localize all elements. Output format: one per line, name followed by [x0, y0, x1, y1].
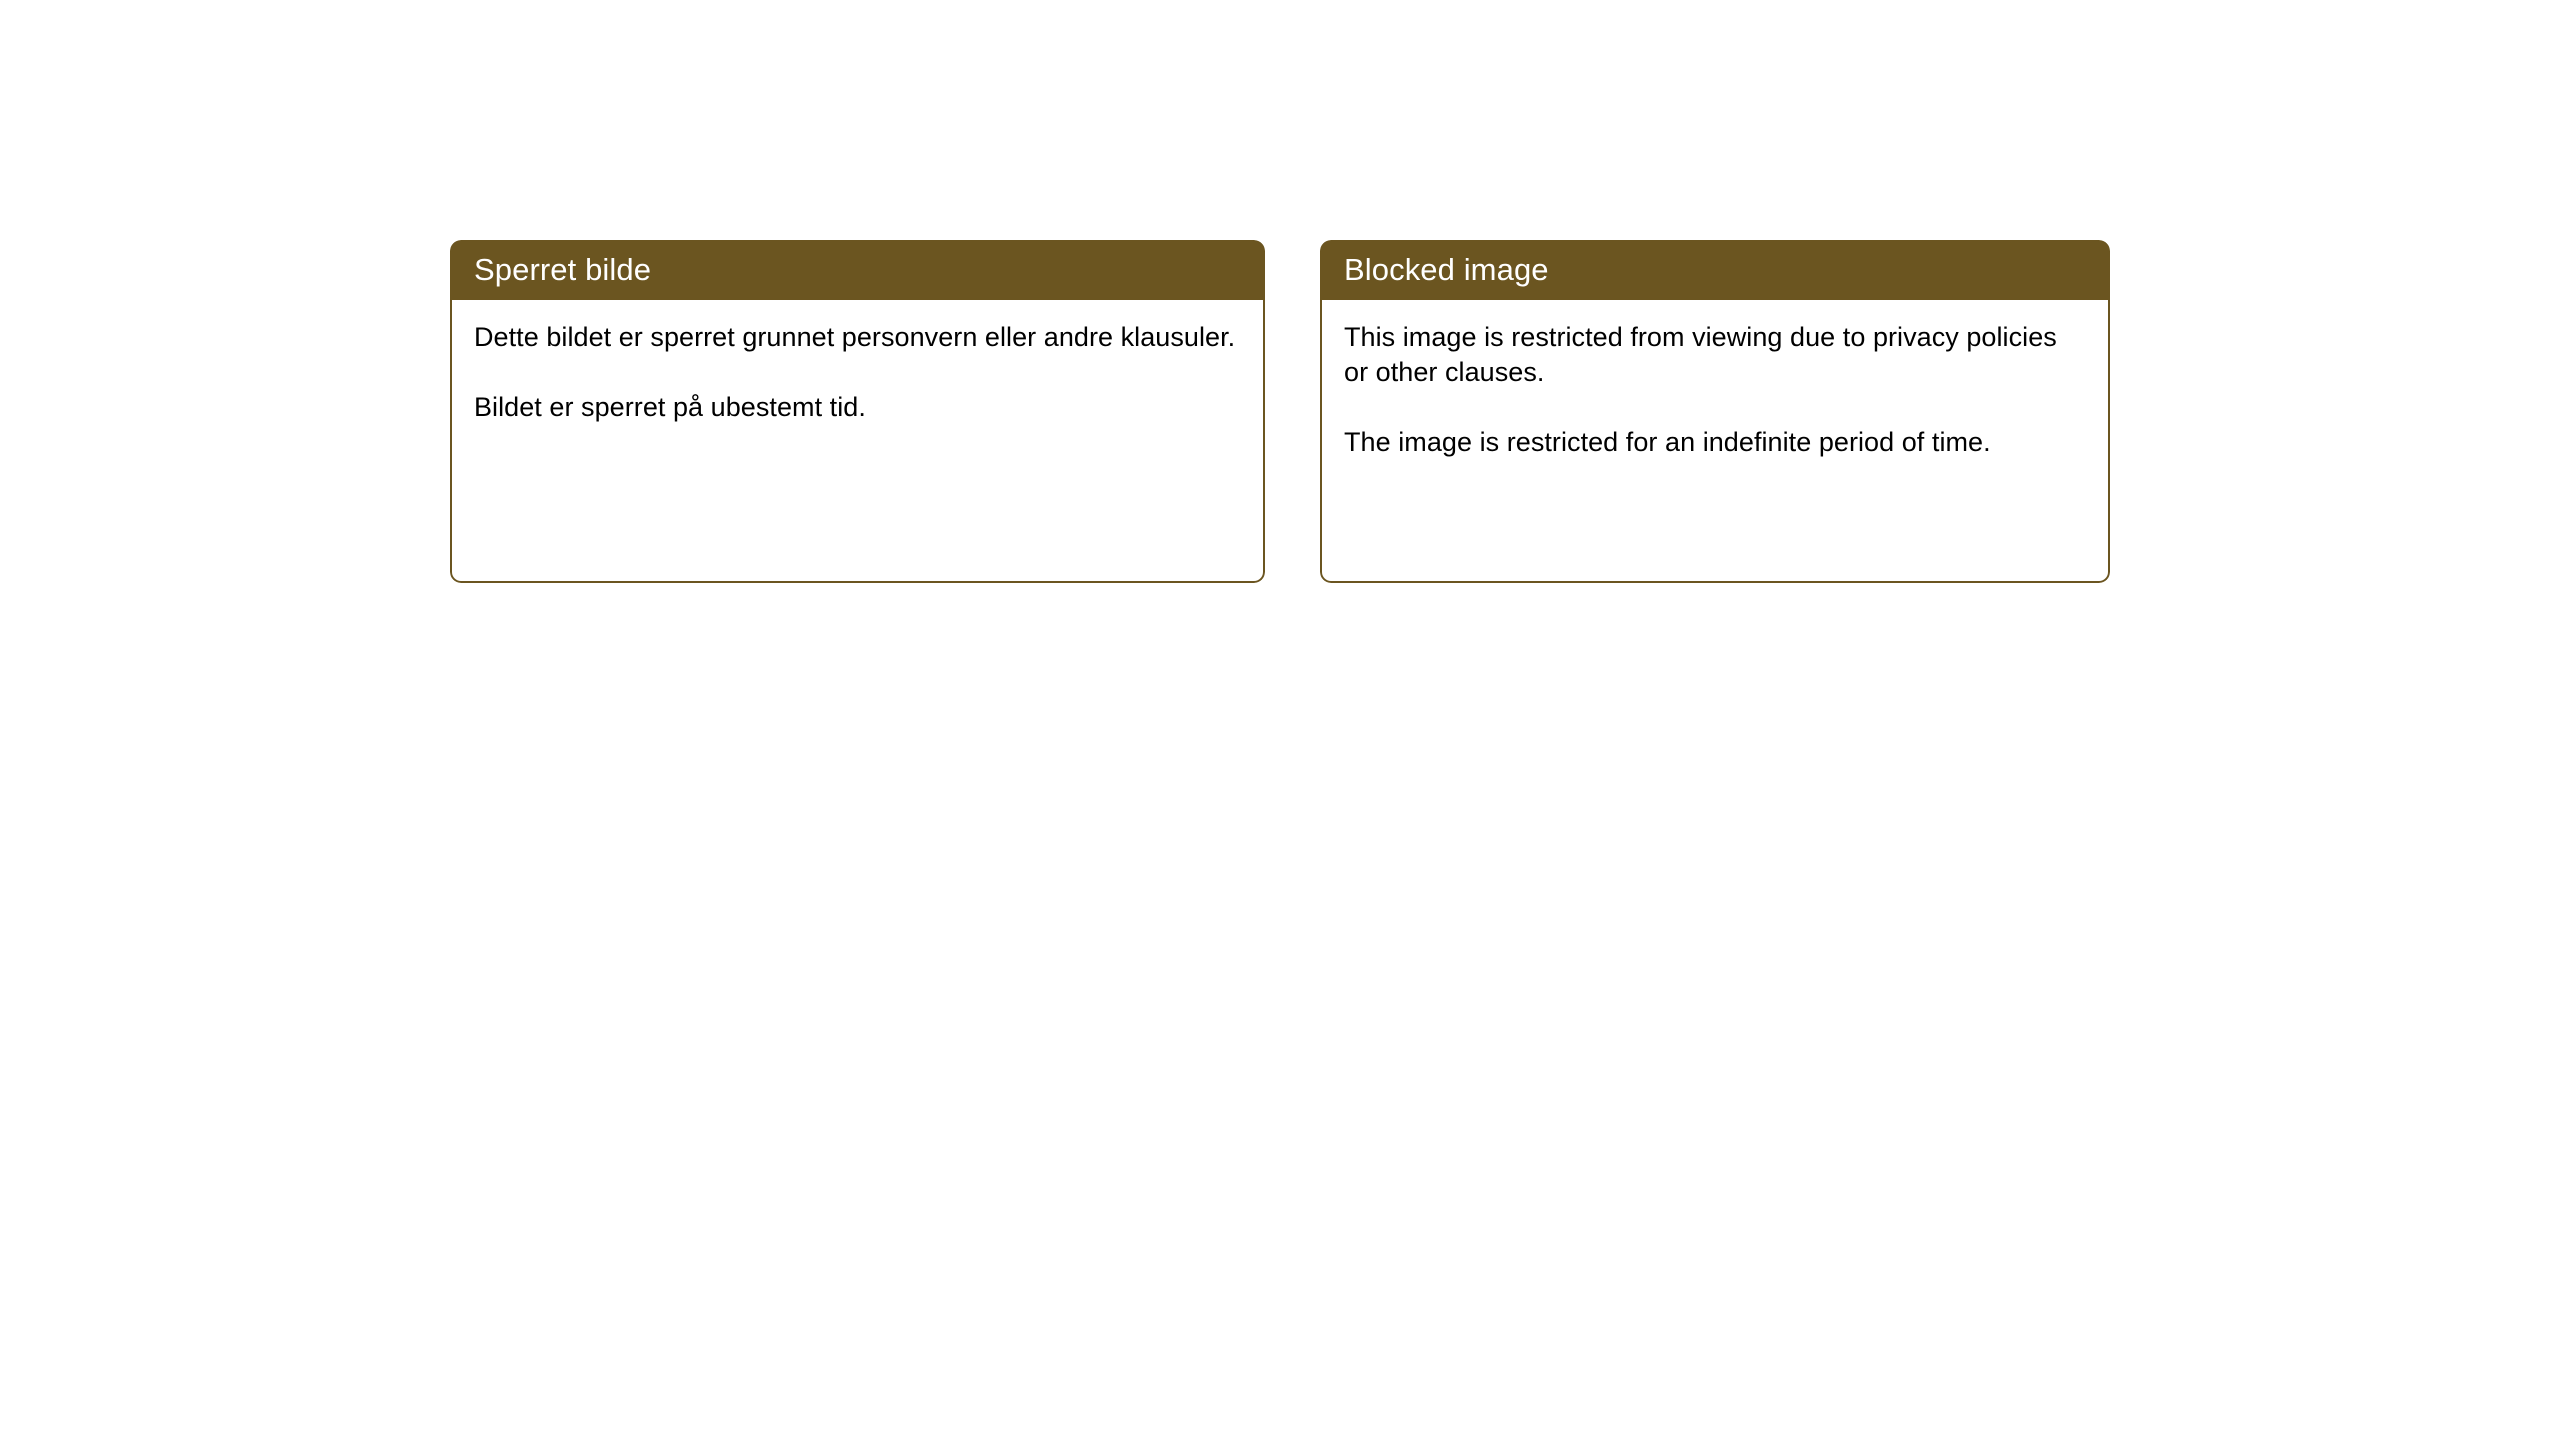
card-paragraph-reason-en: This image is restricted from viewing du… — [1344, 320, 2086, 390]
page-canvas: Sperret bilde Dette bildet er sperret gr… — [0, 0, 2560, 1440]
card-title-en: Blocked image — [1344, 254, 1549, 285]
notice-card-row: Sperret bilde Dette bildet er sperret gr… — [450, 240, 2110, 583]
card-header-en: Blocked image — [1320, 240, 2110, 300]
card-body-no: Dette bildet er sperret grunnet personve… — [450, 300, 1265, 583]
card-body-en: This image is restricted from viewing du… — [1320, 300, 2110, 583]
blocked-image-notice-card-no: Sperret bilde Dette bildet er sperret gr… — [450, 240, 1265, 583]
blocked-image-notice-card-en: Blocked image This image is restricted f… — [1320, 240, 2110, 583]
card-paragraph-reason-no: Dette bildet er sperret grunnet personve… — [474, 320, 1241, 355]
card-paragraph-duration-en: The image is restricted for an indefinit… — [1344, 425, 2086, 460]
card-header-no: Sperret bilde — [450, 240, 1265, 300]
card-title-no: Sperret bilde — [474, 254, 651, 285]
card-paragraph-duration-no: Bildet er sperret på ubestemt tid. — [474, 390, 1241, 425]
